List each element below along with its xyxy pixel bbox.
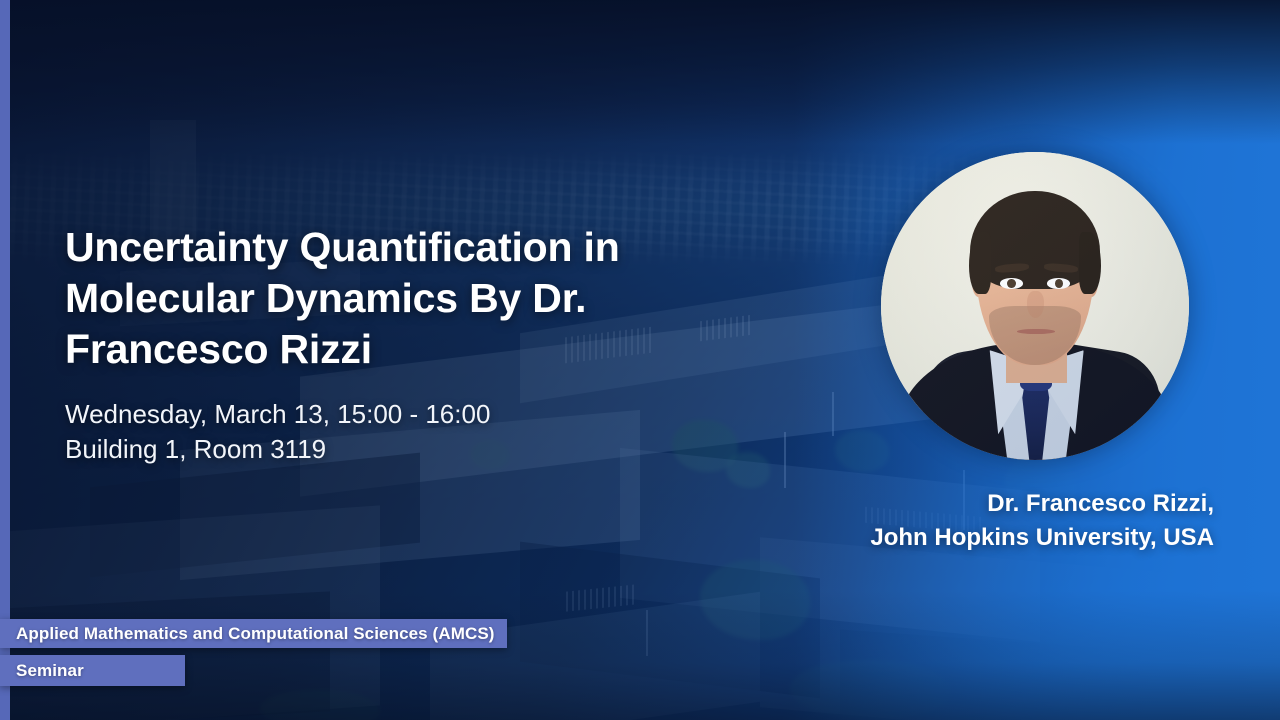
speaker-credit: Dr. Francesco Rizzi, John Hopkins Univer…	[870, 487, 1214, 555]
avatar	[881, 152, 1189, 460]
talk-meta: Wednesday, March 13, 15:00 - 16:00 Build…	[65, 397, 705, 467]
page-title: Uncertainty Quantification in Molecular …	[65, 222, 705, 375]
program-banner: Applied Mathematics and Computational Sc…	[0, 619, 507, 648]
event-type-banner: Seminar	[0, 655, 185, 686]
left-accent-strip	[0, 0, 10, 720]
location-text: Building 1, Room 3119	[65, 432, 705, 467]
talk-text-block: Uncertainty Quantification in Molecular …	[65, 222, 705, 467]
speaker-name: Dr. Francesco Rizzi,	[870, 487, 1214, 521]
speaker-affiliation: John Hopkins University, USA	[870, 521, 1214, 555]
schedule-text: Wednesday, March 13, 15:00 - 16:00	[65, 397, 705, 432]
program-banner-label: Applied Mathematics and Computational Sc…	[16, 624, 495, 644]
speaker-portrait-photo	[881, 152, 1189, 460]
seminar-announcement-slide: Uncertainty Quantification in Molecular …	[0, 0, 1280, 720]
event-type-banner-label: Seminar	[16, 661, 84, 681]
